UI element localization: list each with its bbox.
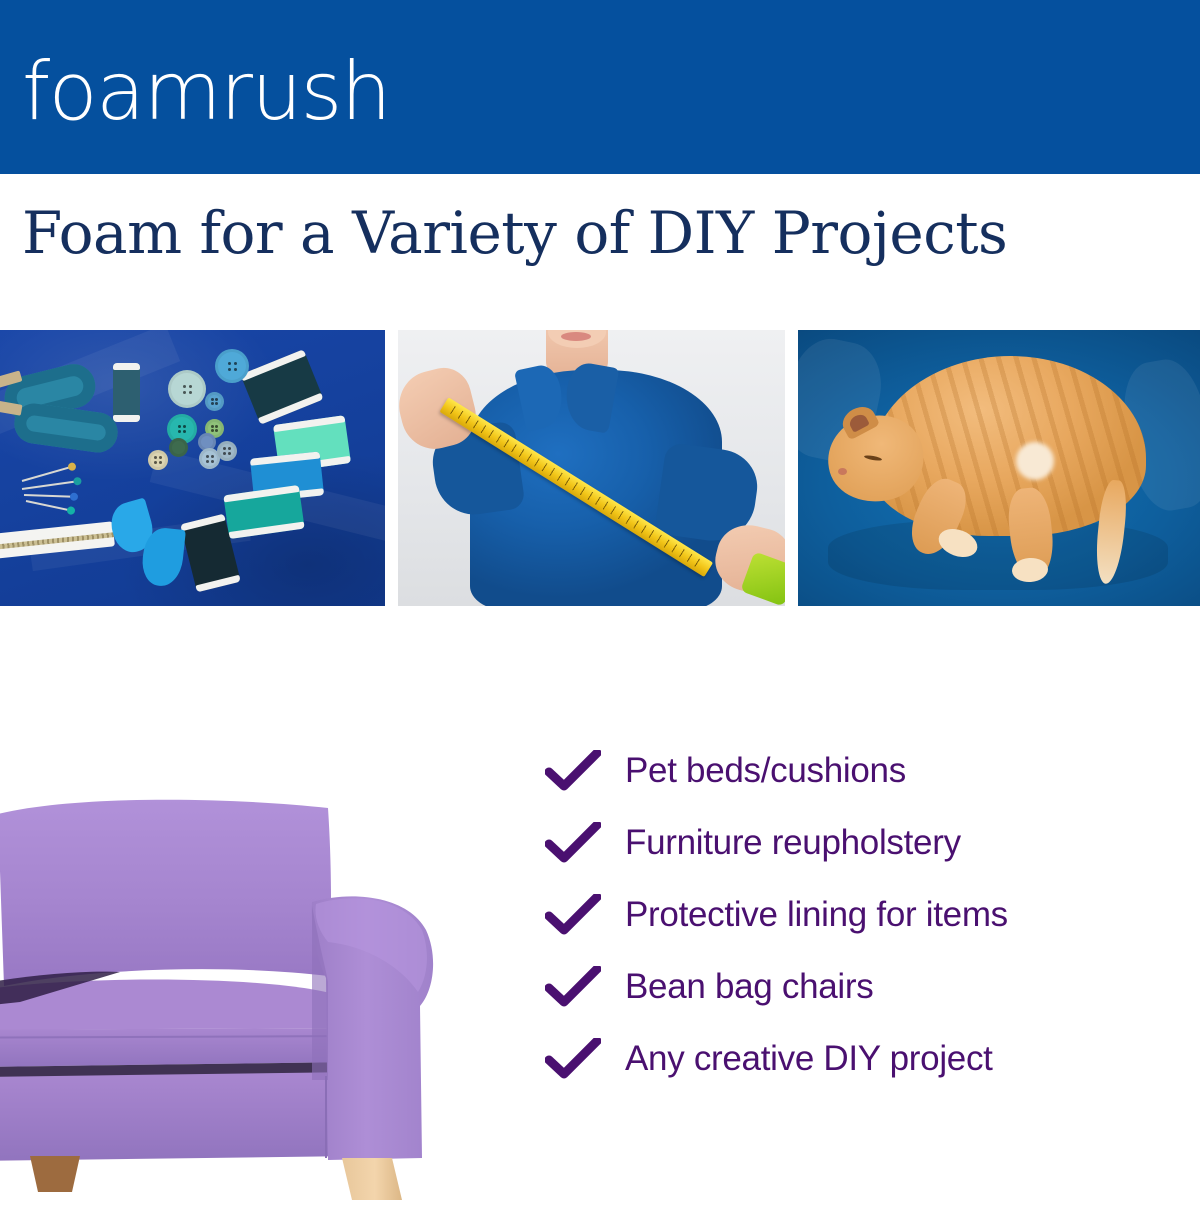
lips	[561, 332, 591, 341]
sofa-back-cushion	[0, 800, 331, 986]
benefit-label: Any creative DIY project	[625, 1038, 993, 1080]
check-icon	[545, 1038, 601, 1080]
gallery-strip	[0, 330, 1200, 606]
benefit-label: Furniture reupholstery	[625, 822, 961, 864]
check-icon	[545, 894, 601, 936]
button-disc	[217, 441, 237, 461]
check-icon	[545, 966, 601, 1008]
list-item: Protective lining for items	[545, 879, 1185, 951]
brand-logo[interactable]: foamrush	[22, 52, 390, 132]
button-disc	[168, 370, 206, 408]
top-banner: foamrush	[0, 0, 1200, 174]
cat-bean-bag-photo	[798, 330, 1200, 606]
list-item: Any creative DIY project	[545, 1023, 1185, 1095]
button-disc	[215, 349, 249, 383]
sofa-base	[0, 1072, 358, 1162]
list-item: Pet beds/cushions	[545, 735, 1185, 807]
thread-spool	[223, 485, 304, 539]
benefit-label: Bean bag chairs	[625, 966, 873, 1008]
benefit-label: Protective lining for items	[625, 894, 1008, 936]
cat-belly-patch	[1016, 442, 1054, 480]
thread-spool	[113, 363, 140, 422]
sofa-leg-back	[30, 1156, 80, 1192]
sofa-seat-front	[0, 1028, 358, 1068]
sewing-supplies-photo	[0, 330, 385, 606]
tape-measure-photo	[398, 330, 785, 606]
benefit-label: Pet beds/cushions	[625, 750, 906, 792]
check-icon	[545, 822, 601, 864]
thread-spool	[240, 349, 323, 425]
button-disc	[169, 438, 188, 457]
button-disc	[205, 392, 224, 411]
purple-sofa-illustration	[0, 780, 460, 1200]
list-item: Furniture reupholstery	[545, 807, 1185, 879]
check-icon	[545, 750, 601, 792]
sofa-leg-front	[342, 1158, 402, 1200]
cat-nose	[838, 468, 847, 475]
benefits-list: Pet beds/cushions Furniture reupholstery…	[545, 735, 1185, 1095]
list-item: Bean bag chairs	[545, 951, 1185, 1023]
button-disc	[148, 450, 168, 470]
page-title: Foam for a Variety of DIY Projects	[22, 196, 1182, 270]
